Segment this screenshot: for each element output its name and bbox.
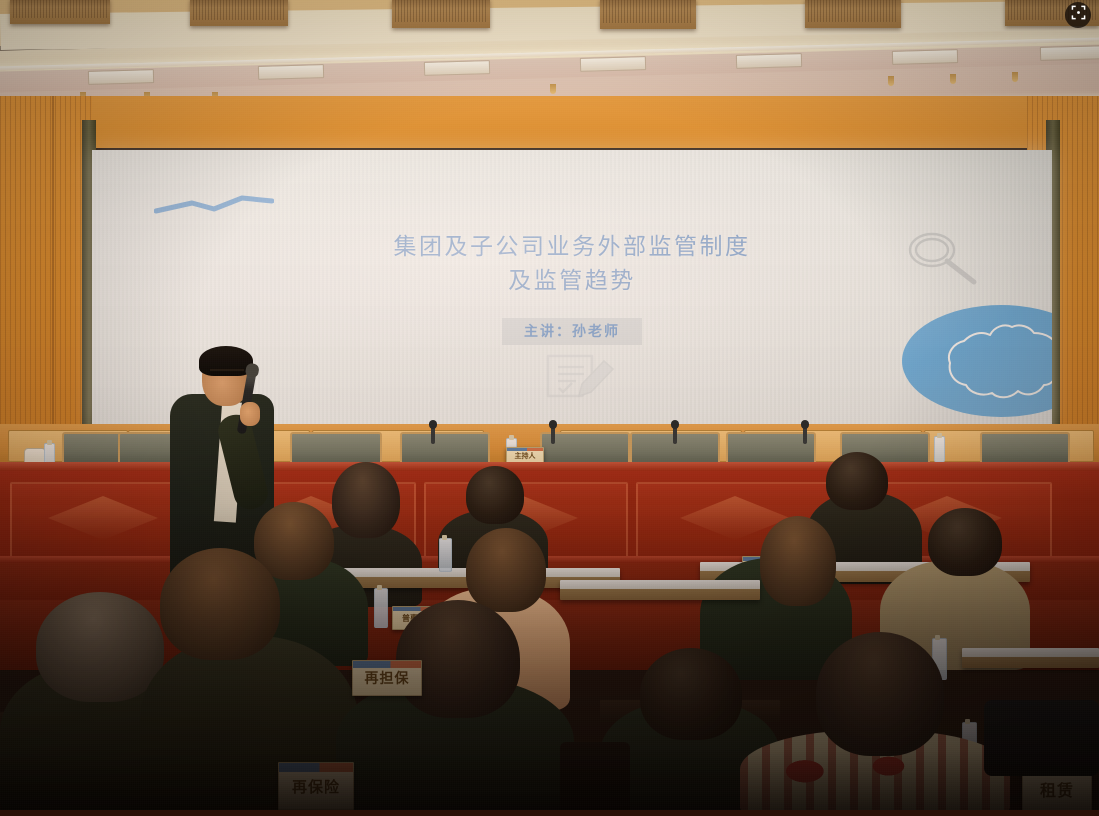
ceiling-baffle (10, 0, 110, 24)
placard-text: 租赁 (1040, 777, 1074, 801)
recessed-light (892, 49, 958, 65)
recessed-light (88, 69, 154, 85)
recessed-light (580, 56, 646, 72)
table-microphone (673, 426, 677, 444)
dais-chair[interactable] (400, 432, 490, 466)
audience-head (36, 592, 164, 702)
audience-chair[interactable] (560, 742, 630, 816)
audience-desk (560, 580, 760, 600)
ceiling-baffle (190, 0, 288, 26)
audience-head (466, 466, 524, 524)
zigzag-decoration-icon (154, 192, 274, 218)
dais-chair[interactable] (980, 432, 1070, 466)
placard-color-strip (507, 448, 543, 451)
ceiling-baffle (805, 0, 901, 28)
ceiling-baffle (600, 0, 696, 29)
expand-fullscreen-icon (1071, 5, 1086, 25)
placard-zaibaoxian: 再保险 (278, 762, 354, 810)
downlight (1012, 72, 1018, 82)
photo-bottom-edge (0, 810, 1099, 816)
water-bottle (439, 538, 452, 572)
china-map-ellipse (902, 305, 1052, 417)
downlight (550, 84, 556, 94)
slide-speaker-badge: 主讲：孙老师 (502, 318, 642, 345)
downlight (950, 74, 956, 84)
placard-color-strip (279, 763, 353, 772)
water-bottle (934, 436, 945, 462)
placard-text: 主持人 (515, 451, 536, 461)
placard-zaidanbao: 再担保 (352, 660, 422, 696)
water-bottle (374, 588, 388, 628)
recessed-light (736, 53, 802, 69)
dais-chair[interactable] (290, 432, 382, 466)
audience-desk (962, 648, 1099, 668)
table-microphone (551, 426, 555, 444)
fullscreen-button[interactable] (1065, 2, 1091, 28)
audience-head (396, 600, 520, 718)
wall-upper-band (0, 96, 1099, 148)
placard-text: 再担保 (365, 668, 410, 688)
audience-head (826, 452, 888, 510)
document-pencil-icon (540, 350, 622, 410)
ceiling-baffle (392, 0, 490, 28)
audience-head (816, 632, 944, 756)
audience-head (332, 462, 400, 538)
recessed-light (1040, 45, 1099, 61)
placard-text: 再保险 (292, 776, 340, 797)
table-microphone (431, 426, 435, 444)
downlight (888, 76, 894, 86)
magnifier-icon (904, 230, 986, 292)
audience-head (640, 648, 742, 740)
presenter-hand (240, 402, 260, 426)
stage-riser-cap (0, 462, 1099, 471)
audience-head (760, 516, 836, 606)
audience-head (928, 508, 1002, 576)
audience-chair[interactable] (984, 700, 1099, 776)
presenter-glasses-icon (210, 369, 244, 379)
audience-head (466, 528, 546, 612)
table-microphone (803, 426, 807, 444)
recessed-light (424, 60, 490, 76)
audience-head (160, 548, 280, 660)
photo-viewport: 集团及子公司业务外部监管制度 及监管趋势 主讲：孙老师 (0, 0, 1099, 816)
placard-color-strip (353, 661, 421, 668)
recessed-light (258, 64, 324, 80)
